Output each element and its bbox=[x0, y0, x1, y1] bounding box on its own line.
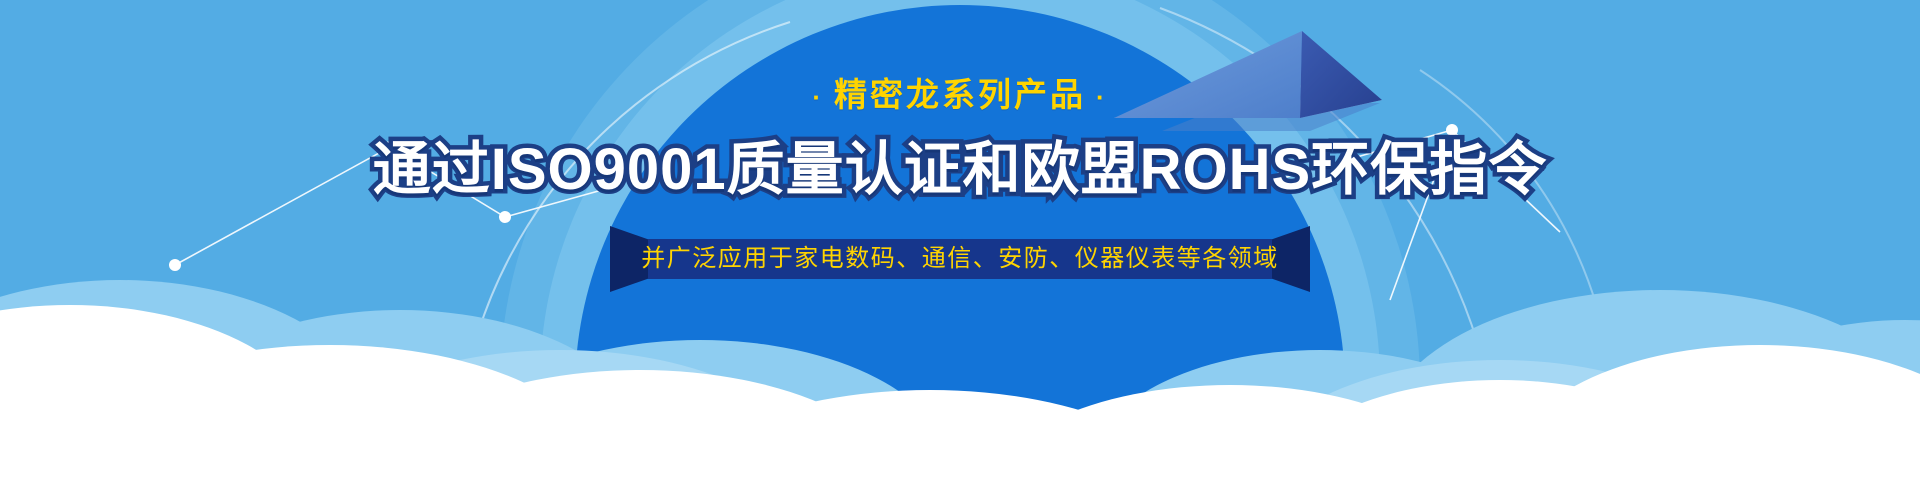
promo-banner: ·精密龙系列产品· 通过ISO9001质量认证和欧盟ROHS环保指令 并广泛应用… bbox=[0, 0, 1920, 480]
background-graphics bbox=[0, 0, 1920, 480]
